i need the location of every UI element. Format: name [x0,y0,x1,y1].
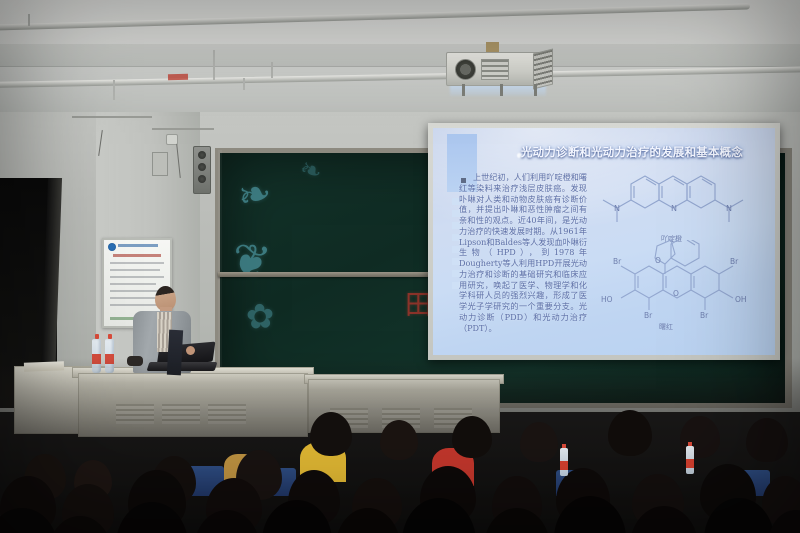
svg-text:N: N [614,204,620,213]
svg-text:N: N [726,204,732,213]
ceiling-beam [0,44,800,66]
poster-text-line [110,283,156,285]
wall-conduit [152,128,214,130]
water-bottle [686,446,694,474]
svg-text:HO: HO [601,295,613,304]
svg-text:Br: Br [644,311,653,320]
svg-text:Br: Br [613,257,622,266]
student-head [520,422,558,462]
student-head [310,412,352,456]
wall-conduit [72,116,152,118]
poster-text-line [110,262,164,264]
student-head [746,418,788,462]
svg-text:O: O [673,289,679,298]
projector-fan-icon [455,59,476,80]
projection-screen[interactable]: 光动力诊断和光动力治疗的发展和基本概念 上世纪初，人们利用吖啶橙和曙红等染料来治… [428,123,780,360]
poster-text-line [110,276,164,278]
poster-text-line [110,297,158,299]
poster-text-line [110,304,162,306]
eosin-structure: O O Br Br Br Br HO OH [595,240,775,326]
svg-text:N: N [671,204,677,213]
student-head [452,416,492,458]
projector-vent [481,59,509,80]
lecture-hall-photo: ❧ ❦ ✿ ❧ 田 物 之 光动力诊断和光动力治疗的发展和基本概念 上世纪初，人… [0,0,800,533]
poster-text-line [110,290,163,292]
pipe-hanger [28,14,30,26]
svg-text:Br: Br [730,257,739,266]
chalk-swirl-icon: ❧ [234,172,275,218]
chalk-swirl-icon: ❦ [229,236,274,287]
pipe-marker [168,74,188,80]
chem-label-eosin: 曙红 [659,322,673,332]
junction-box [152,152,168,176]
poster-header-line [118,244,158,247]
pipe-hanger [243,78,245,90]
projector-foot [500,84,503,96]
projector-foot [462,84,465,96]
student-head [380,420,418,460]
acridine-orange-structure: N N N [601,162,769,234]
projector-foot [534,84,537,96]
wall-speaker [193,146,211,194]
projector [446,52,540,86]
pipe-hanger [213,50,215,80]
presenter-hand [186,346,195,355]
svg-text:O: O [655,256,661,265]
institution-logo-icon [108,243,116,251]
audience [0,358,800,533]
poster-title-line [113,254,161,257]
pipe-hanger [113,80,115,100]
svg-text:Br: Br [700,311,709,320]
slide-surface: 光动力诊断和光动力治疗的发展和基本概念 上世纪初，人们利用吖啶橙和曙红等染料来治… [433,128,775,355]
chalk-swirl-icon: ✿ [245,299,276,335]
poster-text-line [110,269,160,271]
pipe-hanger [271,62,273,78]
svg-text:OH: OH [735,295,747,304]
slide-body-text: 上世纪初，人们利用吖啶橙和曙红等染料来治疗浅层皮肤癌。发现卟啉对人类和动物皮肤癌… [459,172,587,333]
slide-title: 光动力诊断和光动力治疗的发展和基本概念 [489,144,775,160]
student-head [608,410,652,456]
water-bottle [560,448,568,476]
